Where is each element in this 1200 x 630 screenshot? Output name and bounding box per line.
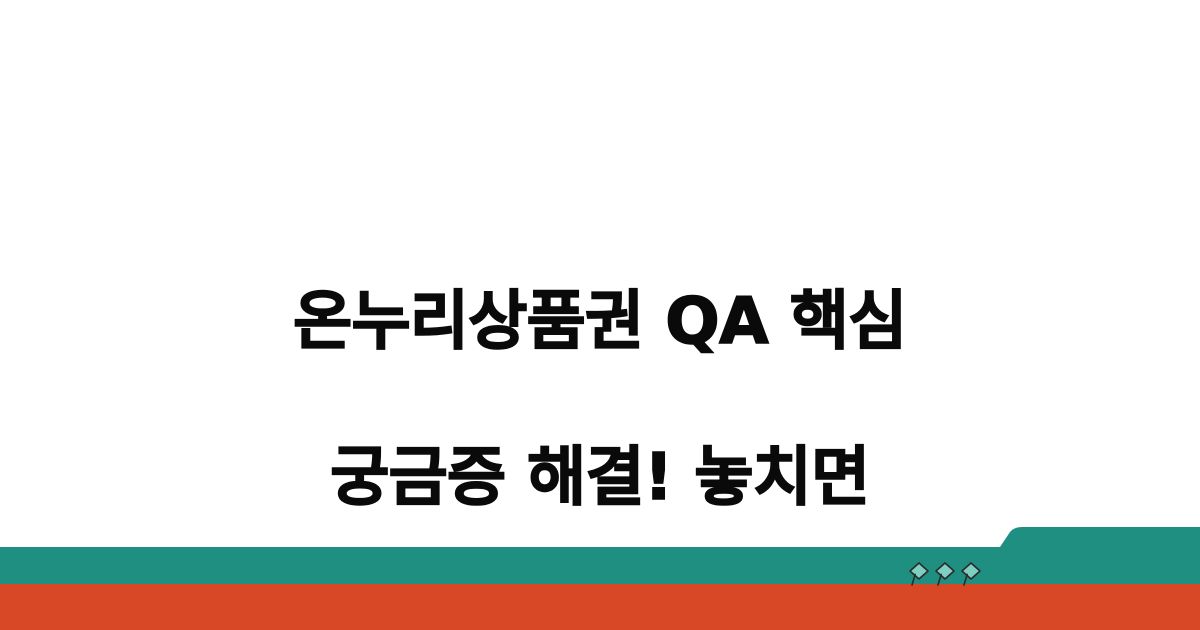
orange-band bbox=[0, 584, 1200, 630]
headline-line-1: 온누리상품권 QA 핵심 bbox=[120, 283, 1080, 361]
poster-canvas: 온누리상품권 QA 핵심 궁금증 해결! 놓치면 손해! bbox=[0, 0, 1200, 630]
headline-line-2: 궁금증 해결! 놓치면 bbox=[120, 439, 1080, 517]
sparkle-diamond-icon bbox=[908, 561, 930, 587]
teal-band bbox=[0, 527, 1200, 584]
sparkle-row bbox=[908, 560, 982, 588]
bottom-decoration bbox=[0, 520, 1200, 630]
sparkle-diamond-icon bbox=[960, 561, 982, 587]
sparkle-diamond-icon bbox=[934, 561, 956, 587]
